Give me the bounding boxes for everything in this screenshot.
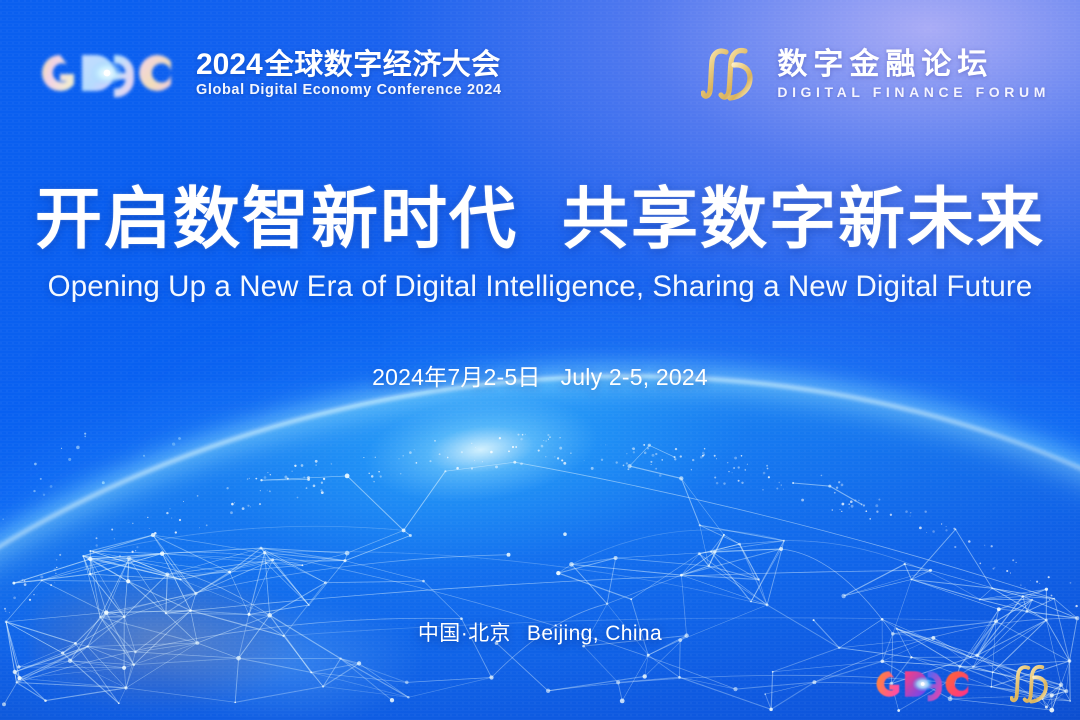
dff-title-block: 数字金融论坛 DIGITAL FINANCE FORUM bbox=[777, 50, 1050, 99]
ff-monogram-icon-small bbox=[1010, 662, 1054, 706]
headline-en: Opening Up a New Era of Digital Intellig… bbox=[0, 270, 1080, 304]
gdec-title-block: 2024全球数字经济大会 Global Digital Economy Conf… bbox=[196, 49, 502, 98]
gdec-logo-icon bbox=[30, 46, 182, 100]
gdec-title-en: Global Digital Economy Conference 2024 bbox=[196, 83, 502, 98]
gdec-title-cn: 2024全球数字经济大会 bbox=[196, 50, 502, 80]
main-copy: 开启数智新时代共享数字新未来 Opening Up a New Era of D… bbox=[0, 186, 1080, 392]
headline-cn-part1: 开启数智新时代 bbox=[35, 182, 518, 257]
location-cn: 中国·北京 bbox=[418, 622, 511, 645]
gdec-logo-icon-small bbox=[868, 664, 976, 704]
headline-cn-part2: 共享数字新未来 bbox=[562, 182, 1045, 257]
footer-logo-row bbox=[868, 662, 1054, 706]
ff-monogram-icon bbox=[701, 45, 761, 103]
dff-title-cn: 数字金融论坛 bbox=[777, 50, 1050, 80]
gdec-brand-lockup: 2024全球数字经济大会 Global Digital Economy Conf… bbox=[30, 46, 502, 100]
headline-cn: 开启数智新时代共享数字新未来 bbox=[0, 186, 1080, 254]
dff-title-en: DIGITAL FINANCE FORUM bbox=[777, 85, 1050, 99]
location-en: Beijing, China bbox=[527, 622, 662, 645]
event-date: 2024年7月2-5日July 2-5, 2024 bbox=[0, 358, 1080, 392]
conference-backdrop: 2024全球数字经济大会 Global Digital Economy Conf… bbox=[0, 0, 1080, 720]
gdec-title-year: 2024 bbox=[196, 48, 263, 81]
event-date-en: July 2-5, 2024 bbox=[561, 364, 708, 390]
gdec-title-cn-text: 全球数字经济大会 bbox=[265, 49, 501, 81]
event-location: 中国·北京Beijing, China bbox=[0, 617, 1080, 647]
event-date-cn: 2024年7月2-5日 bbox=[372, 364, 540, 390]
backdrop-header: 2024全球数字经济大会 Global Digital Economy Conf… bbox=[0, 0, 1080, 130]
dff-brand-lockup: 数字金融论坛 DIGITAL FINANCE FORUM bbox=[701, 45, 1050, 103]
